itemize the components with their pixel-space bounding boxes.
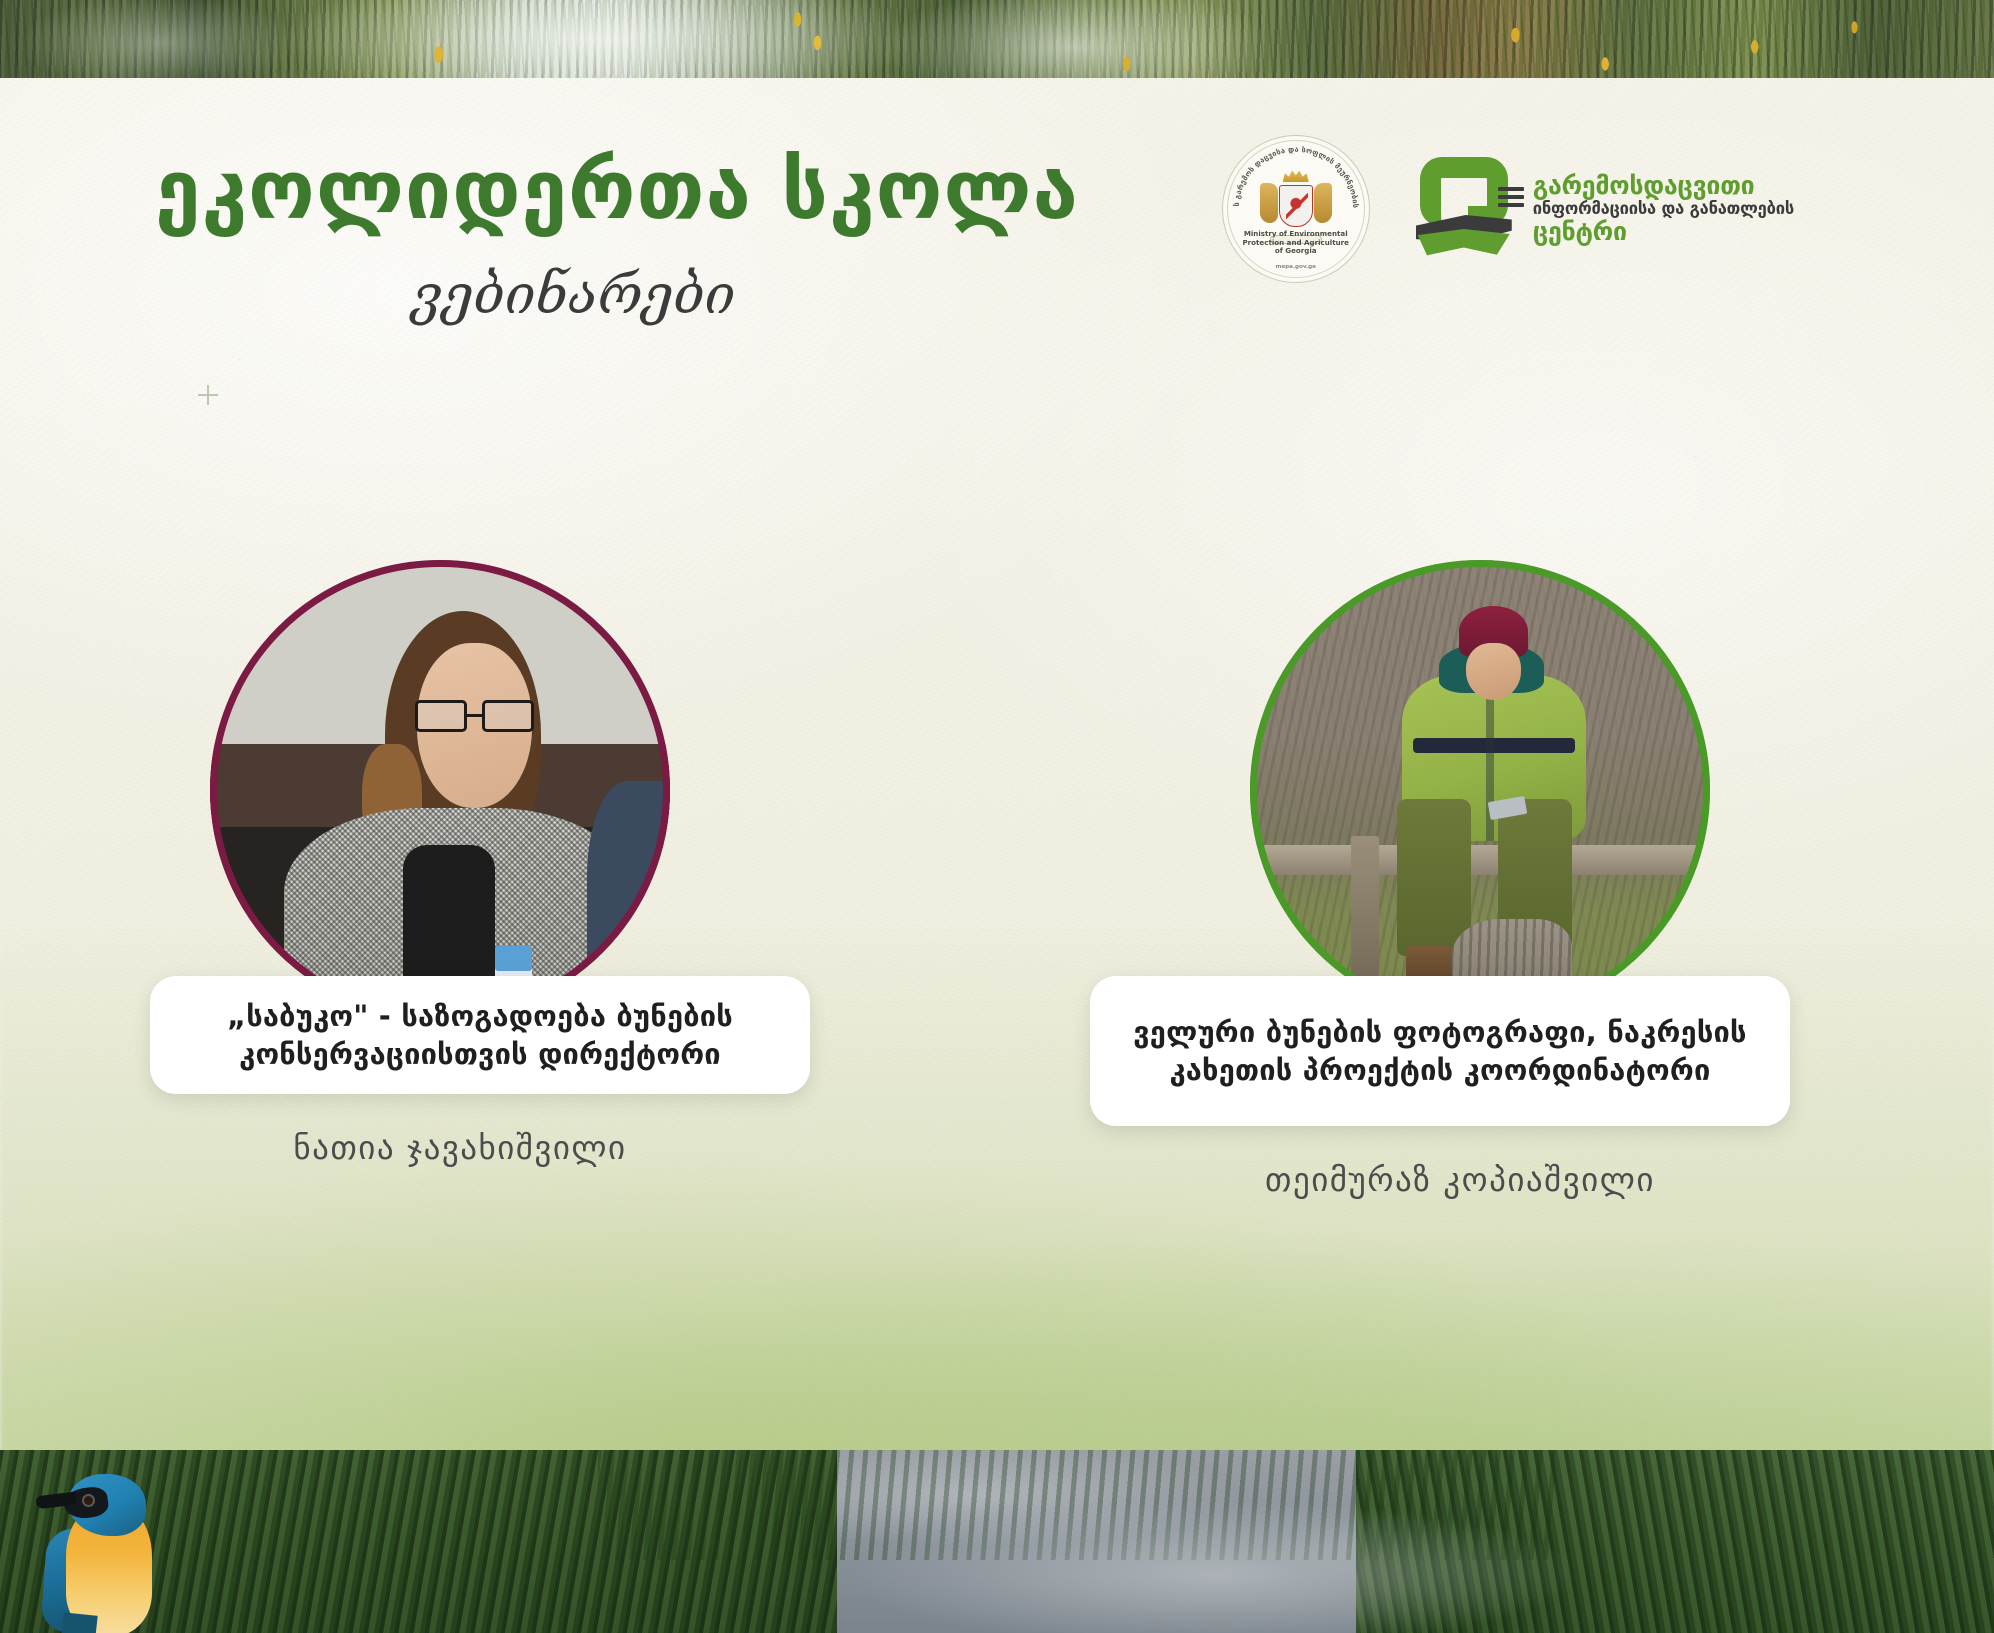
speaker-name: ნათია ჯავახიშვილი [30,1128,890,1167]
speaker-role-card: „საბუკო" - საზოგადოება ბუნების კონსერვაც… [150,976,810,1094]
speakers-row: „საბუკო" - საზოგადოება ბუნების კონსერვაც… [0,560,1994,1380]
photo-eyeglasses [415,700,535,732]
bottom-scene-photo [0,1450,1994,1633]
lion-left-icon [1260,183,1278,223]
speaker-name: თეიმურაზ კოპიაშვილი [1070,1160,1850,1199]
photo-pants-left [1397,799,1471,955]
eiec-wordmark: გარემოსდაცვითი ინფორმაციისა და განათლები… [1533,172,1794,246]
eiec-leaf-book-icon [1416,157,1522,261]
avatar [210,560,670,1020]
eiec-line-2: ინფორმაციისა და განათლების [1533,200,1794,218]
eiec-line-3: ცენტრი [1533,218,1794,246]
speaker-card-natia-javakhishvili: „საბუკო" - საზოგადოება ბუნების კონსერვაც… [70,560,890,1167]
autumn-foliage-specks [0,0,1994,78]
bird-icon [28,1472,188,1633]
lion-right-icon [1314,183,1332,223]
bird-tail [60,1612,97,1633]
eiec-logo: გარემოსდაცვითი ინფორმაციისა და განათლები… [1416,157,1794,261]
speaker-photo-natia [210,560,670,1020]
ministry-seal-icon: საქართველოს გარემოს დაცვისა და სოფლის მე… [1222,135,1370,283]
speaker-role-card: ველური ბუნების ფოტოგრაფი, ნაკრესის კახეთ… [1090,976,1790,1126]
speaker-role-text: „საბუკო" - საზოგადოება ბუნების კონსერვაც… [178,997,782,1074]
plus-decoration-icon [198,385,218,405]
eiec-line-1: გარემოსდაცვითი [1533,172,1794,200]
avatar [1250,560,1710,1020]
eiec-bars-icon [1498,187,1524,209]
saint-george-shield-icon [1279,185,1313,227]
logo-row: საქართველოს გარემოს დაცვისა და სოფლის მე… [1222,135,1794,283]
seal-english-line-3: of Georgia [1223,247,1369,256]
seal-website-url: mepa.gov.ge [1223,264,1369,270]
top-forest-banner [0,0,1994,78]
presentation-slide: ეკოლიდერთა სკოლა ვებინარები საქართველოს … [0,0,1994,1633]
seal-english-name: Ministry of Environmental Protection and… [1223,230,1369,256]
bottom-forest-bird-banner [0,1450,1994,1633]
bird-eye [84,1496,93,1505]
photo-fence-rail [1250,845,1710,875]
crown-icon [1283,168,1309,182]
speaker-card-teimuraz-kopiashvili: ველური ბუნების ფოტოგრაფი, ნაკრესის კახეთ… [1030,560,1850,1199]
speaker-photo-teimuraz [1250,560,1710,1020]
page-title: ეკოლიდერთა სკოლა [155,150,1079,232]
page-subtitle: ვებინარები [412,268,735,322]
speaker-role-text: ველური ბუნების ფოტოგრაფი, ნაკრესის კახეთ… [1118,1013,1762,1090]
photo-mist-haze [798,1487,1636,1633]
